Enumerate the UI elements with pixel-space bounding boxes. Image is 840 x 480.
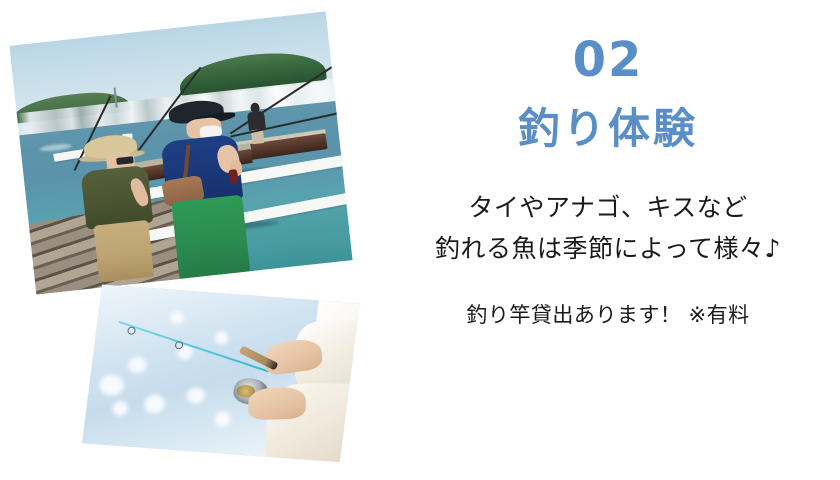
page-title: 釣り体験 [518,106,698,152]
rod-and-reel-photo [82,284,360,462]
lower-hand [248,386,306,420]
lead-paragraph: タイやアナゴ、キスなど 釣れる魚は季節によって様々♪ [435,188,781,269]
lead-line-2: 釣れる魚は季節によって様々♪ [435,229,781,270]
pier-fishing-photo [9,12,352,295]
text-content: 02 釣り体験 タイやアナゴ、キスなど 釣れる魚は季節によって様々♪ 釣り竿貸出… [376,0,840,480]
pier-scene [9,12,352,295]
page-root: 02 釣り体験 タイやアナゴ、キスなど 釣れる魚は季節によって様々♪ 釣り竿貸出… [0,0,840,480]
step-number: 02 [573,36,644,84]
lead-line-1: タイやアナゴ、キスなど [435,188,781,229]
rental-note: 釣り竿貸出あります！ ※有料 [466,299,749,329]
photo-collage [0,0,400,480]
